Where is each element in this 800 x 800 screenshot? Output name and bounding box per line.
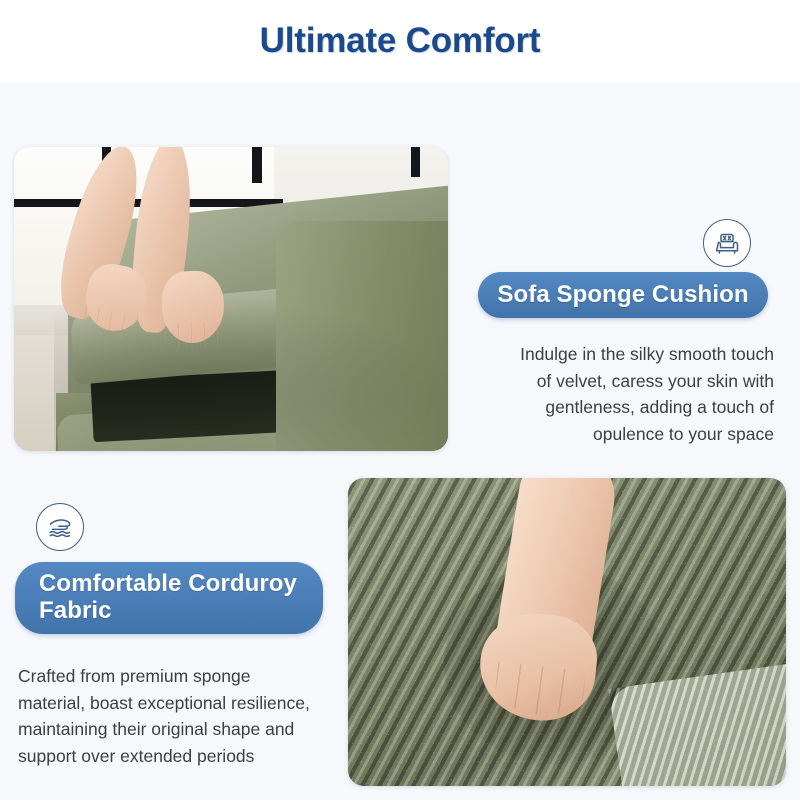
window-frame-vertical-2 xyxy=(252,147,262,183)
page-title: Ultimate Comfort xyxy=(260,21,541,61)
product-feature-page: Ultimate Comfort xyxy=(0,0,800,800)
photo-scene xyxy=(348,478,786,786)
window-frame-vertical-3 xyxy=(411,147,420,177)
right-hand-fingers xyxy=(165,322,226,350)
feature-description-comfortable-corduroy-fabric: Crafted from premium sponge material, bo… xyxy=(18,663,330,769)
photo-hands-lifting-sofa-cushion xyxy=(14,147,448,451)
badge-label: Comfortable Corduroy Fabric xyxy=(39,571,299,625)
badge-comfortable-corduroy-fabric[interactable]: Comfortable Corduroy Fabric xyxy=(15,562,323,634)
photo-fist-pressing-corduroy-cushion xyxy=(348,478,786,786)
hand-on-fabric-icon xyxy=(36,503,84,551)
page-header: Ultimate Comfort xyxy=(0,0,800,82)
badge-label: Sofa Sponge Cushion xyxy=(497,282,748,309)
photo-scene xyxy=(14,147,448,451)
armchair-icon xyxy=(703,219,751,267)
badge-sofa-sponge-cushion[interactable]: Sofa Sponge Cushion xyxy=(478,272,768,318)
right-hand xyxy=(161,270,225,344)
feature-description-sofa-sponge-cushion: Indulge in the silky smooth touch of vel… xyxy=(466,341,774,447)
knuckles xyxy=(493,662,586,719)
